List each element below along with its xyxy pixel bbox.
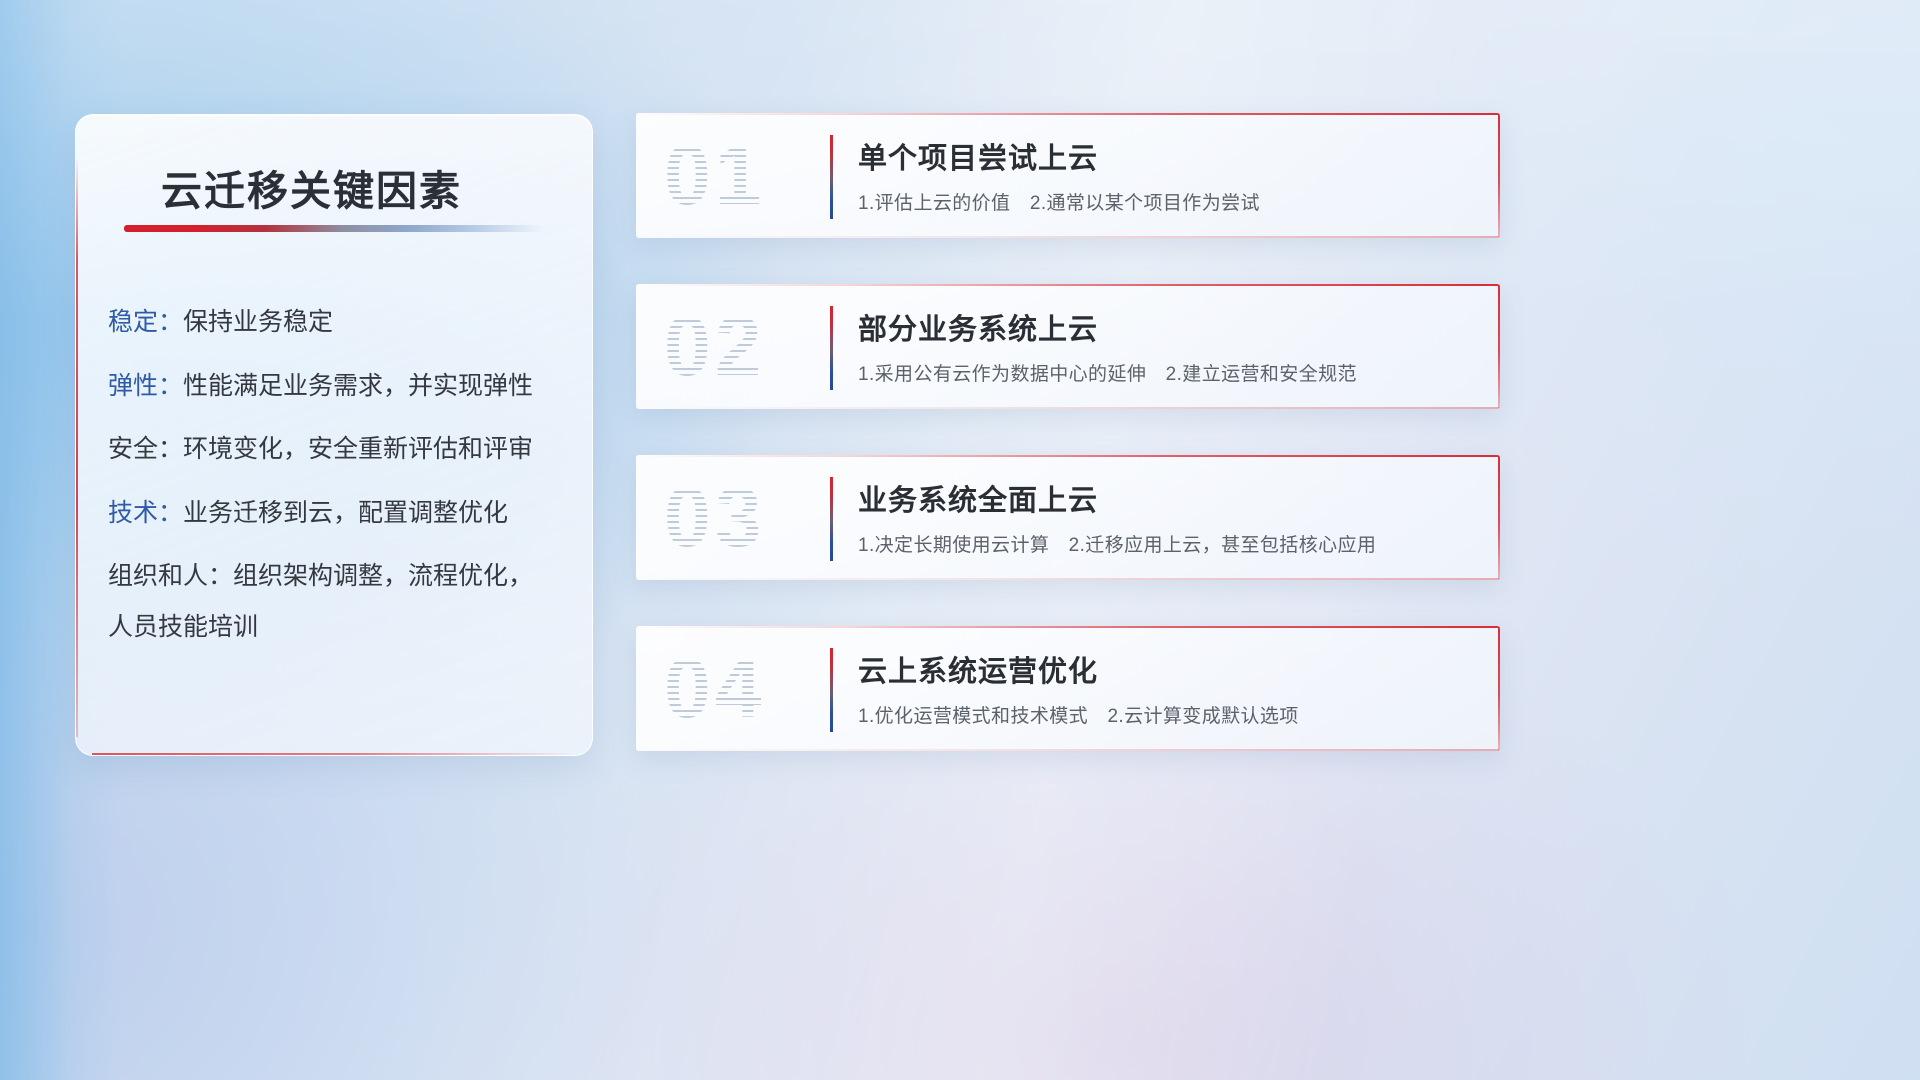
- list-item-label: 稳定：: [108, 308, 183, 336]
- list-item-label: 技术：: [108, 499, 183, 527]
- stage-number: 04: [664, 638, 765, 738]
- stage-number: 01: [664, 125, 765, 225]
- page-title: 云迁移关键因素: [161, 157, 462, 217]
- list-item-label: 组织和人：: [108, 562, 233, 590]
- card-divider-bar: [830, 306, 833, 390]
- card-bottom-accent: [636, 236, 1500, 238]
- card-top-accent: [636, 113, 1500, 115]
- card-top-accent: [636, 455, 1500, 457]
- card-bottom-accent: [636, 578, 1500, 580]
- stage-number: 02: [664, 296, 765, 396]
- card-divider-bar: [830, 648, 833, 732]
- card-right-accent: [1498, 455, 1500, 580]
- list-item-text: 性能满足业务需求，并实现弹性: [183, 372, 533, 400]
- card-top-accent: [636, 626, 1500, 628]
- key-factors-panel: 云迁移关键因素 稳定：保持业务稳定 弹性：性能满足业务需求，并实现弹性 安全：环…: [75, 114, 593, 756]
- list-item: 弹性：性能满足业务需求，并实现弹性: [108, 369, 568, 404]
- stage-card-list: 01 单个项目尝试上云 1.评估上云的价值 2.通常以某个项目作为尝试 02 部…: [636, 113, 1500, 797]
- stage-number: 03: [664, 467, 765, 567]
- stage-title: 云上系统运营优化: [858, 648, 1098, 690]
- list-item: 安全：环境变化，安全重新评估和评审: [108, 432, 568, 467]
- list-item-label: 弹性：: [108, 372, 183, 400]
- stage-description: 1.采用公有云作为数据中心的延伸 2.建立运营和安全规范: [858, 359, 1357, 386]
- stage-description: 1.决定长期使用云计算 2.迁移应用上云，甚至包括核心应用: [858, 530, 1376, 557]
- stage-card[interactable]: 02 部分业务系统上云 1.采用公有云作为数据中心的延伸 2.建立运营和安全规范: [636, 284, 1500, 409]
- stage-description: 1.评估上云的价值 2.通常以某个项目作为尝试: [858, 188, 1260, 215]
- stage-title: 部分业务系统上云: [858, 306, 1098, 348]
- title-underline-gradient: [124, 225, 544, 232]
- stage-card[interactable]: 01 单个项目尝试上云 1.评估上云的价值 2.通常以某个项目作为尝试: [636, 113, 1500, 238]
- card-right-accent: [1498, 284, 1500, 409]
- list-item: 技术：业务迁移到云，配置调整优化: [108, 496, 568, 531]
- list-item: 稳定：保持业务稳定: [108, 305, 568, 340]
- card-right-accent: [1498, 626, 1500, 751]
- card-divider-bar: [830, 135, 833, 219]
- card-bottom-accent: [636, 407, 1500, 409]
- stage-card[interactable]: 04 云上系统运营优化 1.优化运营模式和技术模式 2.云计算变成默认选项: [636, 626, 1500, 751]
- key-factors-list: 稳定：保持业务稳定 弹性：性能满足业务需求，并实现弹性 安全：环境变化，安全重新…: [108, 305, 568, 644]
- list-item-text: 组织架构调整，流程优化，: [233, 562, 533, 590]
- stage-description: 1.优化运营模式和技术模式 2.云计算变成默认选项: [858, 701, 1299, 728]
- card-bottom-accent: [636, 749, 1500, 751]
- stage-title: 单个项目尝试上云: [858, 135, 1098, 177]
- card-divider-bar: [830, 477, 833, 561]
- list-item: 组织和人：组织架构调整，流程优化，: [108, 559, 568, 594]
- card-right-accent: [1498, 113, 1500, 238]
- list-item-continuation: 人员技能培训: [108, 610, 568, 645]
- card-top-accent: [636, 284, 1500, 286]
- list-item-text: 环境变化，安全重新评估和评审: [183, 435, 533, 463]
- list-item-text: 保持业务稳定: [183, 308, 333, 336]
- list-item-text: 业务迁移到云，配置调整优化: [183, 499, 508, 527]
- list-item-label: 安全：: [108, 435, 183, 463]
- stage-card[interactable]: 03 业务系统全面上云 1.决定长期使用云计算 2.迁移应用上云，甚至包括核心应…: [636, 455, 1500, 580]
- stage-title: 业务系统全面上云: [858, 477, 1098, 519]
